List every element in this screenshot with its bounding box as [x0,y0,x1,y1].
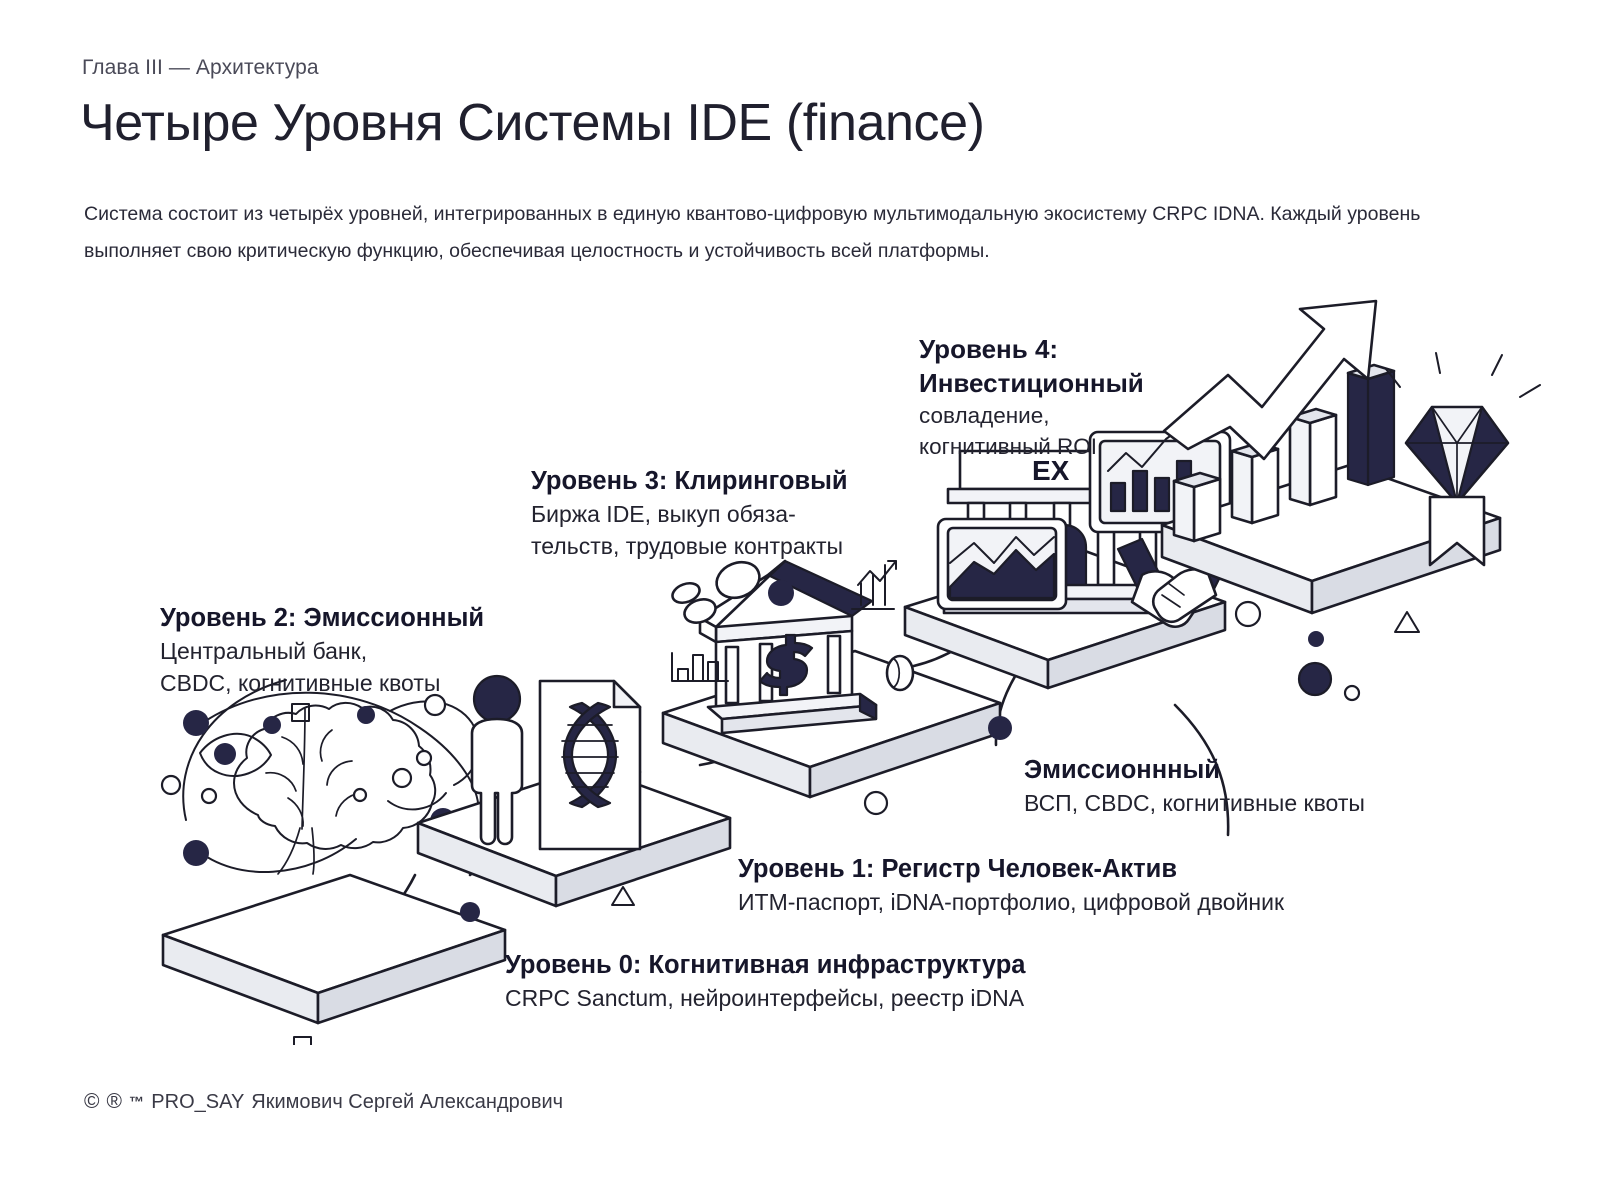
level-3-sub-line1: Биржа IDE, выкуп обяза- [531,499,848,531]
level-4-sub-line1: совладение, [919,400,1144,431]
label-emission: Эмиссионнный ВСП, CBDC, когнитивные квот… [1024,753,1365,820]
page-title: Четыре Уровня Системы IDE (finance) [80,93,985,153]
registered-icon: ® [106,1090,121,1114]
level-0-sub-line1: CRPC Sanctum, нейроинтерфейсы, реестр iD… [505,983,1025,1015]
level-3-sub-line2: тельств, трудовые контракты [531,531,848,563]
level-2-title: Уровень 2: Эмиссионный [160,601,484,636]
level-1-title: Уровень 1: Регистр Человек-Актив [738,852,1284,887]
dna-document-icon [540,681,640,849]
level-2-sub-line1: Центральный банк, [160,636,484,668]
label-level-2: Уровень 2: Эмиссионный Центральный банк,… [160,601,484,699]
level-4-title-line1: Уровень 4: [919,332,1144,366]
level-2-sub-line2: CBDC, когнитивные квоты [160,668,484,700]
footer-author: Якимович Сергей Александрович [251,1091,563,1114]
eye-icon [200,734,271,776]
intro-paragraph: Система состоит из четырёх уровней, инте… [84,196,1444,270]
level-3-title: Уровень 3: Клиринговый [531,464,848,499]
platform-level-0 [163,875,505,1023]
copyright-icon: © [84,1090,99,1114]
emission-sub-line1: ВСП, CBDC, когнитивные квоты [1024,788,1365,820]
level-4-sub-line2: когнитивный ROI [919,431,1144,462]
chapter-eyebrow: Глава III — Архитектура [82,56,319,80]
market-screen-icon [938,519,1066,609]
footer-credit: © ® ™ PRO_SAY Якимович Сергей Александро… [84,1090,563,1114]
slide-page: Глава III — Архитектура Четыре Уровня Си… [0,0,1600,1203]
label-level-1: Уровень 1: Регистр Человек-Актив ИТМ-пас… [738,852,1284,919]
level-4-title-line2: Инвестиционный [919,366,1144,400]
label-level-4: Уровень 4: Инвестиционный совладение, ко… [919,332,1144,462]
footer-brand: PRO_SAY [151,1091,244,1114]
level-1-sub-line1: ИТМ-паспорт, iDNA-портфолио, цифровой дв… [738,887,1284,919]
level-0-title: Уровень 0: Когнитивная инфраструктура [505,948,1025,983]
emission-title: Эмиссионнный [1024,753,1365,788]
label-level-3: Уровень 3: Клиринговый Биржа IDE, выкуп … [531,464,848,562]
trademark-icon: ™ [129,1094,144,1111]
upward-arrow-icon [1164,301,1376,459]
label-level-0: Уровень 0: Когнитивная инфраструктура CR… [505,948,1025,1015]
